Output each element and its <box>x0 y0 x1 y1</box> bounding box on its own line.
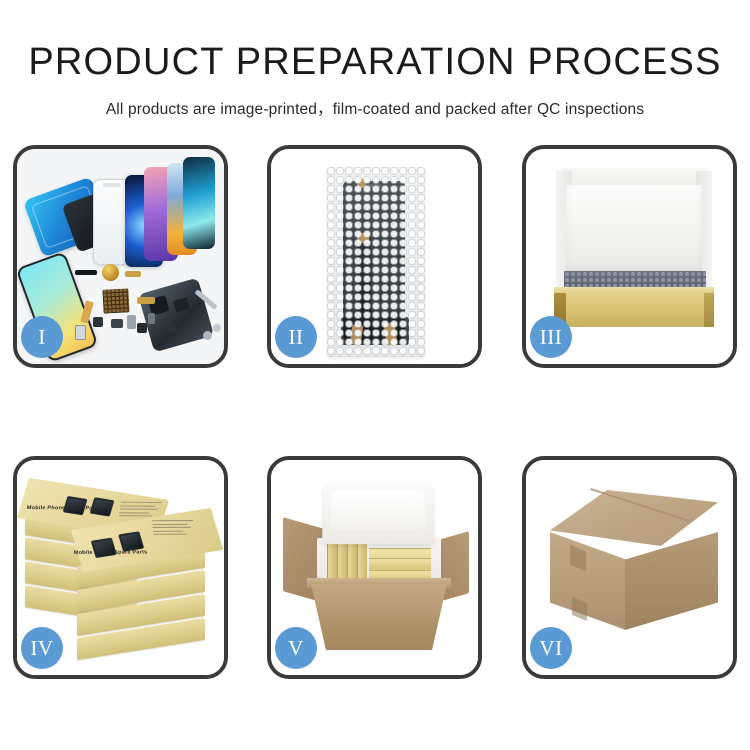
box-spec-lines-front <box>152 520 196 544</box>
part-camera-icon <box>137 323 147 333</box>
part-gold-contact-icon <box>137 297 155 304</box>
box-label-front: Mobile Phone Spare Parts <box>73 550 147 556</box>
process-step-card-3[interactable]: III <box>522 145 737 368</box>
box-label-rear: Mobile Phone Spare Parts <box>26 505 100 511</box>
carton-front-icon <box>311 584 447 650</box>
process-step-card-1[interactable]: I <box>13 145 228 368</box>
part-bracket-icon <box>127 315 136 329</box>
step-badge-4: IV <box>21 627 63 669</box>
chip-array-icon <box>102 288 129 313</box>
page-title: PRODUCT PREPARATION PROCESS <box>0 0 750 81</box>
part-speaker-icon <box>75 270 97 275</box>
part-screw-b-icon <box>213 324 221 332</box>
header: PRODUCT PREPARATION PROCESS All products… <box>0 0 750 119</box>
process-step-card-2[interactable]: II <box>267 145 482 368</box>
foam-lid-open-icon <box>322 483 434 544</box>
step-badge-5: V <box>275 627 317 669</box>
carton-top-face-icon <box>550 490 718 546</box>
step-badge-1: I <box>21 316 63 358</box>
part-screw-a-icon <box>203 331 212 340</box>
teal-phone-screen-icon <box>183 157 215 249</box>
page-subtitle: All products are image-printed，film-coat… <box>0 81 750 119</box>
bubble-wrap-bag-icon <box>327 167 425 357</box>
step-badge-6: VI <box>530 627 572 669</box>
part-sim-tray-icon <box>75 325 86 340</box>
packed-box-6 <box>369 558 431 569</box>
process-step-card-4[interactable]: Mobile Phone Spare Parts Mobile Phone Sp… <box>13 456 228 679</box>
part-flex-cable-icon <box>125 271 141 277</box>
bubble-texture-icon <box>327 167 425 357</box>
part-shield-icon <box>148 313 155 324</box>
step-badge-3: III <box>530 316 572 358</box>
process-step-card-5[interactable]: V <box>267 456 482 679</box>
carton-right-face-icon <box>625 532 718 630</box>
process-step-grid: I II <box>13 145 737 679</box>
process-step-card-6[interactable]: VI <box>522 456 737 679</box>
yellow-box-front-icon <box>554 293 714 327</box>
white-foam-insert-icon <box>566 185 702 273</box>
part-connector-icon <box>111 319 123 328</box>
product-preparation-infographic: PRODUCT PREPARATION PROCESS All products… <box>0 0 750 750</box>
part-module-icon <box>93 317 103 327</box>
vibration-motor-icon <box>102 264 119 281</box>
carton-left-face-icon <box>550 532 626 630</box>
step-badge-2: II <box>275 316 317 358</box>
